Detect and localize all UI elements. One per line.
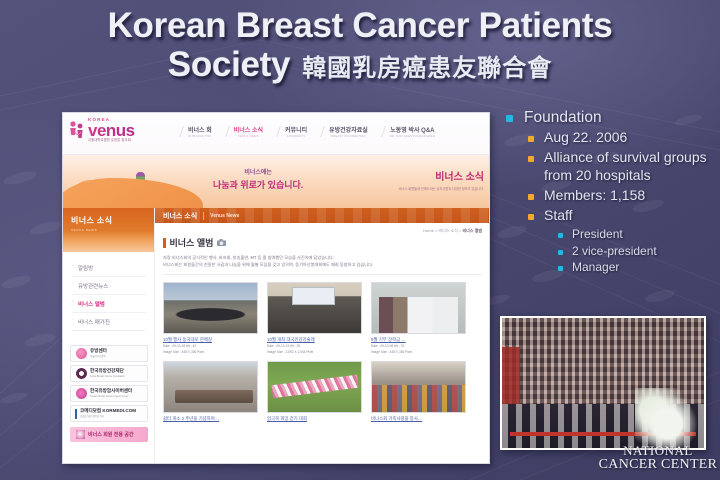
gallery-item[interactable]: 10월 개최 대국민강강술래 Date : 09-10-13 Hit : 29 … — [267, 282, 362, 356]
nav-label-ko: 비너스 소식 — [234, 125, 263, 134]
banner-kbcf[interactable]: 한국유방건강재단 Korea Breast Cancer Foundation — [70, 365, 148, 382]
gallery-caption[interactable]: 10월 개최 대국민강강술래 — [267, 337, 362, 343]
gallery-thumbnail[interactable] — [371, 282, 466, 334]
gallery-caption[interactable]: 암극복 희망 걷기 대회 — [267, 416, 362, 422]
banner-subtitle: Korean Breast Cancer Cyber Center — [90, 395, 129, 398]
pink-ribbon-icon — [76, 430, 85, 439]
sidebar-header-en: VENUS NEWS — [71, 228, 154, 232]
gallery-size: Image Size : 448 X 336 Pixel — [371, 350, 466, 355]
sidebar-header-ko: 비너스 소식 — [71, 215, 154, 226]
nav-label-en: BREAST INFORMATION — [329, 135, 368, 138]
gallery-item[interactable]: 9월 기부 장학금 … Date : 09-10-06 Hit : 70 Ima… — [371, 282, 466, 356]
nav-item-community[interactable]: 커뮤니티 COMMUNITY — [278, 125, 307, 138]
outline-label: Aug 22. 2006 — [544, 129, 627, 147]
content-bar-ko: 비너스 소식 — [163, 211, 197, 221]
website-header: KOREA venus 서울대학교병원 유방암 환우회 비너스 회 INTROD… — [63, 113, 489, 155]
banner-members-only[interactable]: 비너스 회원 전용 공간 — [70, 427, 148, 442]
nav-item-doctor-qa[interactable]: 노동영 박사 Q&A DR. NOH QUESTION&ANSWER — [383, 125, 435, 138]
outline-item-manager: Manager — [558, 260, 718, 276]
outline-label: 2 vice-president — [572, 244, 657, 260]
breadcrumb-prefix: Home > 비너스 소식 > — [423, 228, 462, 233]
nav-item-venus-news[interactable]: 비너스 소식 VENUS NEWS — [227, 125, 263, 138]
kormedi-bar-icon — [75, 409, 77, 419]
nav-label-en: VENUS NEWS — [234, 135, 263, 138]
hero-right-text: 비너스 소식 비너스 회원들께 전해드리는 공지사항과 다양한 정보가 있습니다… — [399, 168, 484, 191]
outline-item-alliance: Alliance of survival groups from 20 hosp… — [528, 149, 718, 185]
description-line-2: 비너스회는 회원들간의 친밀한 사귐과 나눔을 위해 월별 모임을 갖고 있으며… — [163, 261, 481, 268]
bullet-square-icon — [558, 233, 563, 238]
nav-label-ko: 커뮤니티 — [285, 125, 307, 134]
page-title-text: 비너스 앨범 — [170, 236, 214, 249]
bullet-square-icon — [528, 156, 534, 162]
outline-item-foundation: Foundation — [506, 108, 718, 127]
watermark-line-2: CANCER CENTER — [596, 458, 720, 473]
nav-label-ko: 노동영 박사 Q&A — [390, 125, 435, 134]
outline-item-vice-president: 2 vice-president — [558, 244, 718, 260]
bullet-square-icon — [558, 266, 563, 271]
outline-item-staff: Staff — [528, 207, 718, 225]
banner-breast-center[interactable]: 유방센터 서울대학교병원 — [70, 345, 148, 362]
website-body: 비너스 소식 VENUS NEWS 알림방 유방관련뉴스 비너스 앨범 비너스 … — [63, 208, 489, 464]
gallery-item[interactable]: 쉼터 개소 2 주년을 기념하며… — [163, 361, 258, 422]
gallery-item[interactable]: 암극복 희망 걷기 대회 — [267, 361, 362, 422]
hero-center-text: 비너스에는 나눔과 위로가 있습니다. — [213, 167, 303, 191]
gallery-caption[interactable]: 비너스회 가족사랑을 봉사… — [371, 416, 466, 422]
presentation-slide: Korean Breast Cancer Patients Society韓國乳… — [0, 0, 720, 480]
banner-subtitle: 서울대학교병원 — [90, 355, 105, 358]
sidebar-item-venus-magazine[interactable]: 비너스 매거진 — [72, 313, 146, 331]
bullet-outline: Foundation Aug 22. 2006 Alliance of surv… — [506, 108, 718, 277]
website-nav: 비너스 회 INTRODUCTION 비너스 소식 VENUS NEWS 커뮤니… — [181, 125, 435, 138]
watermark-line-1: NATIONAL — [596, 444, 720, 458]
gallery-item[interactable]: 10월 행사 동국대로 한메길 Date : 09-10-16 Hit : 42… — [163, 282, 258, 356]
bullet-square-icon — [558, 250, 563, 255]
outline-label: President — [572, 227, 623, 243]
venus-logo[interactable]: KOREA venus 서울대학교병원 유방암 환우회 — [69, 118, 135, 142]
banner-title: 비너스 회원 전용 공간 — [88, 431, 134, 438]
page-title: 비너스 앨범 — [163, 236, 489, 249]
gallery-thumbnail[interactable] — [163, 282, 258, 334]
hero-center-line-2: 나눔과 위로가 있습니다. — [213, 178, 303, 191]
bullet-square-icon — [528, 136, 534, 142]
nav-label-en: DR. NOH QUESTION&ANSWER — [390, 135, 435, 138]
gallery-thumbnail[interactable] — [267, 361, 362, 413]
website-main-content: 비너스 소식 Venus News Home > 비너스 소식 > 비너스 앨범… — [155, 208, 489, 464]
gallery-thumbnail[interactable] — [163, 361, 258, 413]
group-photo — [500, 316, 706, 450]
breadcrumb: Home > 비너스 소식 > 비너스 앨범 — [155, 223, 489, 234]
flower-arrangement — [635, 388, 700, 448]
flower-icon — [76, 388, 87, 399]
sidebar-item-breast-news[interactable]: 유방관련뉴스 — [72, 277, 146, 295]
hero-right-subtitle: 비너스 회원들께 전해드리는 공지사항과 다양한 정보가 있습니다. — [399, 186, 484, 191]
bullet-square-icon — [528, 214, 534, 220]
title-line-2: Society — [168, 45, 290, 84]
banner-kormedi[interactable]: 코메디닷컴 KORMEDI.COM 건강을 위한 정직한 지식 — [70, 405, 148, 422]
gallery-date: Date : 09-10-13 Hit : 29 — [267, 344, 362, 349]
outline-item-members: Members: 1,158 — [528, 187, 718, 205]
gallery-caption[interactable]: 10월 행사 동국대로 한메길 — [163, 337, 258, 343]
hero-center-line-1: 비너스에는 — [213, 167, 303, 176]
outline-label: Foundation — [524, 108, 602, 127]
banner-cyber-center[interactable]: 한국유방암사이버센터 Korean Breast Cancer Cyber Ce… — [70, 385, 148, 402]
bullet-square-icon — [506, 115, 513, 122]
sidebar-item-notice[interactable]: 알림방 — [72, 259, 146, 277]
sidebar-menu: 알림방 유방관련뉴스 비너스 앨범 비너스 매거진 — [63, 252, 154, 331]
gallery-row-2: 쉼터 개소 2 주년을 기념하며… 암극복 희망 걷기 대회 비너스회 가족사랑… — [155, 355, 489, 422]
banner-subtitle: Korea Breast Cancer Foundation — [90, 375, 125, 378]
title-subtitle-cjk: 韓國乳房癌患友聯合會 — [302, 55, 552, 82]
kbcf-logo-icon — [76, 368, 87, 379]
description-line-1: 자랑 비너스회의 공식적인 행사, 바자회, 방송출연, MT 등 즐 참여했던… — [163, 254, 481, 261]
divider — [203, 212, 204, 220]
hero-table-illustration — [125, 189, 155, 204]
nav-label-en: INTRODUCTION — [188, 135, 212, 138]
hero-flower-illustration — [136, 172, 145, 190]
content-bar-en: Venus News — [210, 213, 239, 219]
banner-title: 한국유방암사이버센터 — [90, 388, 132, 393]
nav-label-en: COMMUNITY — [285, 135, 307, 138]
outline-label: Staff — [544, 207, 573, 225]
national-cancer-center-watermark: NATIONAL CANCER CENTER — [596, 444, 720, 472]
venus-figures-icon — [69, 120, 86, 140]
gallery-size: Image Size : 448 X 336 Pixel — [163, 350, 258, 355]
gallery-thumbnail[interactable] — [371, 361, 466, 413]
ribbon-icon — [76, 348, 87, 359]
website-sidebar: 비너스 소식 VENUS NEWS 알림방 유방관련뉴스 비너스 앨범 비너스 … — [63, 208, 155, 464]
logo-venus-text: venus — [88, 123, 135, 139]
gallery-caption[interactable]: 쉼터 개소 2 주년을 기념하며… — [163, 416, 258, 422]
website-screenshot: KOREA venus 서울대학교병원 유방암 환우회 비너스 회 INTROD… — [62, 112, 490, 464]
hero-right-title: 비너스 소식 — [399, 168, 484, 183]
nav-item-breast-information[interactable]: 유방건강자료실 BREAST INFORMATION — [322, 125, 368, 138]
slide-title: Korean Breast Cancer Patients Society韓國乳… — [0, 6, 720, 84]
outline-item-date: Aug 22. 2006 — [528, 129, 718, 147]
logo-subtitle: 서울대학교병원 유방암 환우회 — [88, 139, 135, 142]
banner-subtitle: 건강을 위한 정직한 지식 — [80, 415, 104, 418]
content-section-bar: 비너스 소식 Venus News — [155, 208, 489, 223]
nav-item-introduction[interactable]: 비너스 회 INTRODUCTION — [181, 125, 212, 138]
banner-title: 유방센터 — [90, 348, 107, 353]
nav-label-ko: 유방건강자료실 — [329, 125, 368, 134]
page-description: 자랑 비너스회의 공식적인 행사, 바자회, 방송출연, MT 등 즐 참여했던… — [163, 254, 481, 275]
gallery-thumbnail[interactable] — [267, 282, 362, 334]
outline-item-president: President — [558, 227, 718, 243]
gallery-item[interactable]: 비너스회 가족사랑을 봉사… — [371, 361, 466, 422]
title-line-1: Korean Breast Cancer Patients — [0, 6, 720, 45]
website-hero-banner: 비너스에는 나눔과 위로가 있습니다. 비너스 소식 비너스 회원들께 전해드리… — [63, 155, 489, 208]
gallery-date: Date : 09-10-06 Hit : 70 — [371, 344, 466, 349]
gallery-row-1: 10월 행사 동국대로 한메길 Date : 09-10-16 Hit : 42… — [155, 275, 489, 356]
outline-label: Members: 1,158 — [544, 187, 645, 205]
outline-label: Alliance of survival groups from 20 hosp… — [544, 149, 718, 185]
gallery-date: Date : 09-10-16 Hit : 42 — [163, 344, 258, 349]
gallery-size: Image Size : 2,592 X 1,944 Pixel — [267, 350, 362, 355]
sidebar-banners: 유방센터 서울대학교병원 한국유방건강재단 Korea Breast Cance… — [63, 331, 154, 442]
banner-title: 한국유방건강재단 — [90, 368, 124, 373]
hero-sofa-illustration — [71, 180, 123, 206]
sidebar-item-venus-album[interactable]: 비너스 앨범 — [72, 295, 146, 313]
banner-title: 코메디닷컴 KORMEDI.COM — [80, 408, 136, 413]
gallery-caption[interactable]: 9월 기부 장학금 … — [371, 337, 466, 343]
camera-icon — [217, 238, 226, 248]
bullet-square-icon — [528, 194, 534, 200]
breadcrumb-current: 비너스 앨범 — [462, 228, 482, 233]
outline-label: Manager — [572, 260, 619, 276]
sidebar-header: 비너스 소식 VENUS NEWS — [63, 208, 154, 252]
nav-label-ko: 비너스 회 — [188, 125, 212, 134]
